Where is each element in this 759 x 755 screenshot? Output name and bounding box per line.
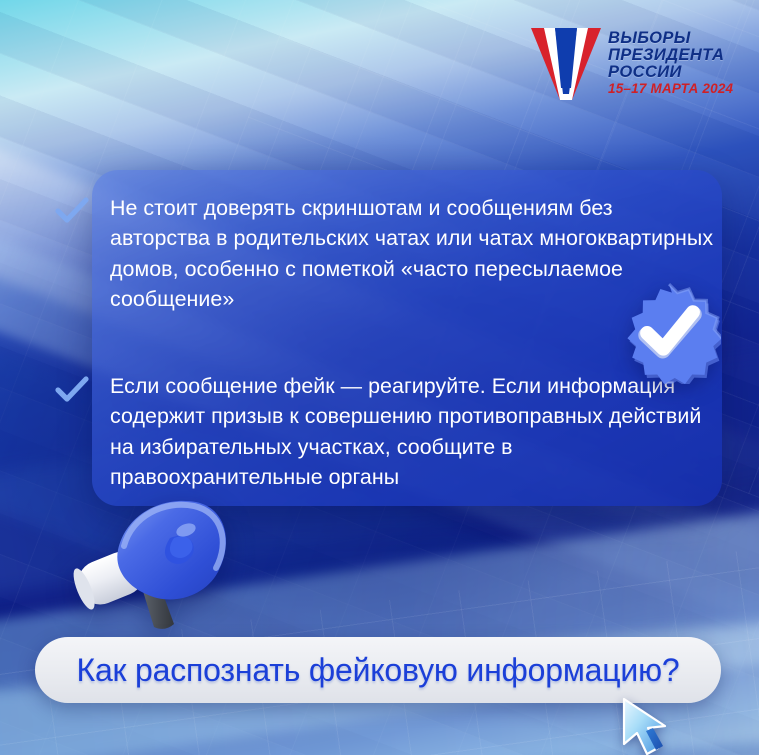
mouse-cursor-icon bbox=[618, 697, 682, 755]
card-item-text-2: Если сообщение фейк — реагируйте. Если и… bbox=[110, 371, 716, 493]
poster-root: ВЫБОРЫ ПРЕЗИДЕНТА РОССИИ 15–17 МАРТА 202… bbox=[0, 0, 759, 755]
megaphone-icon bbox=[66, 490, 244, 650]
verified-badge-icon bbox=[617, 280, 721, 384]
logo-line-2: ПРЕЗИДЕНТА bbox=[608, 47, 733, 64]
logo-line-1: ВЫБОРЫ bbox=[608, 30, 733, 47]
question-banner: Как распознать фейковую информацию? bbox=[35, 637, 721, 703]
check-icon bbox=[55, 375, 89, 405]
election-logo: ВЫБОРЫ ПРЕЗИДЕНТА РОССИИ 15–17 МАРТА 202… bbox=[531, 26, 717, 108]
russian-flag-v-emblem-icon bbox=[531, 28, 601, 100]
banner-title: Как распознать фейковую информацию? bbox=[77, 652, 680, 689]
check-icon bbox=[55, 196, 89, 226]
logo-text-block: ВЫБОРЫ ПРЕЗИДЕНТА РОССИИ 15–17 МАРТА 202… bbox=[608, 26, 733, 96]
logo-line-3: РОССИИ bbox=[608, 64, 733, 81]
logo-date: 15–17 МАРТА 2024 bbox=[608, 82, 733, 96]
